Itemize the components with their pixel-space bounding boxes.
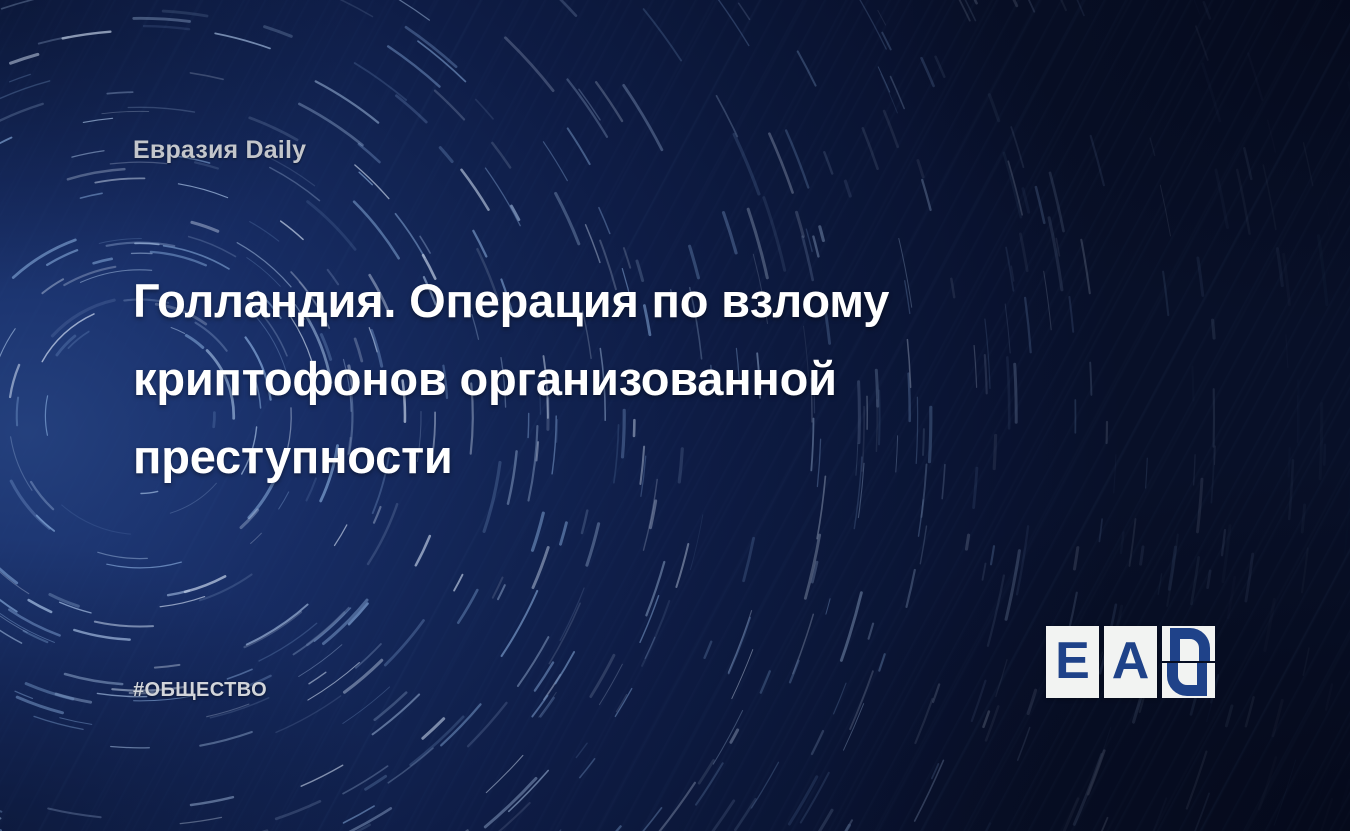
publication-brand: Евразия Daily	[133, 136, 306, 165]
logo-letter-e: E	[1055, 635, 1090, 687]
logo-tile-a: A	[1104, 626, 1157, 698]
logo-split-d-icon	[1162, 626, 1215, 698]
logo-tile-e: E	[1046, 626, 1099, 698]
news-cover-card: Евразия Daily Голландия. Операция по взл…	[0, 0, 1350, 831]
article-rubric-tag[interactable]: #ОБЩЕСТВО	[133, 679, 267, 702]
article-headline: Голландия. Операция по взлому криптофоно…	[133, 262, 1033, 496]
eadaily-logo[interactable]: E A	[1046, 626, 1215, 698]
logo-tile-d	[1162, 626, 1215, 698]
logo-letter-a: A	[1112, 635, 1150, 687]
